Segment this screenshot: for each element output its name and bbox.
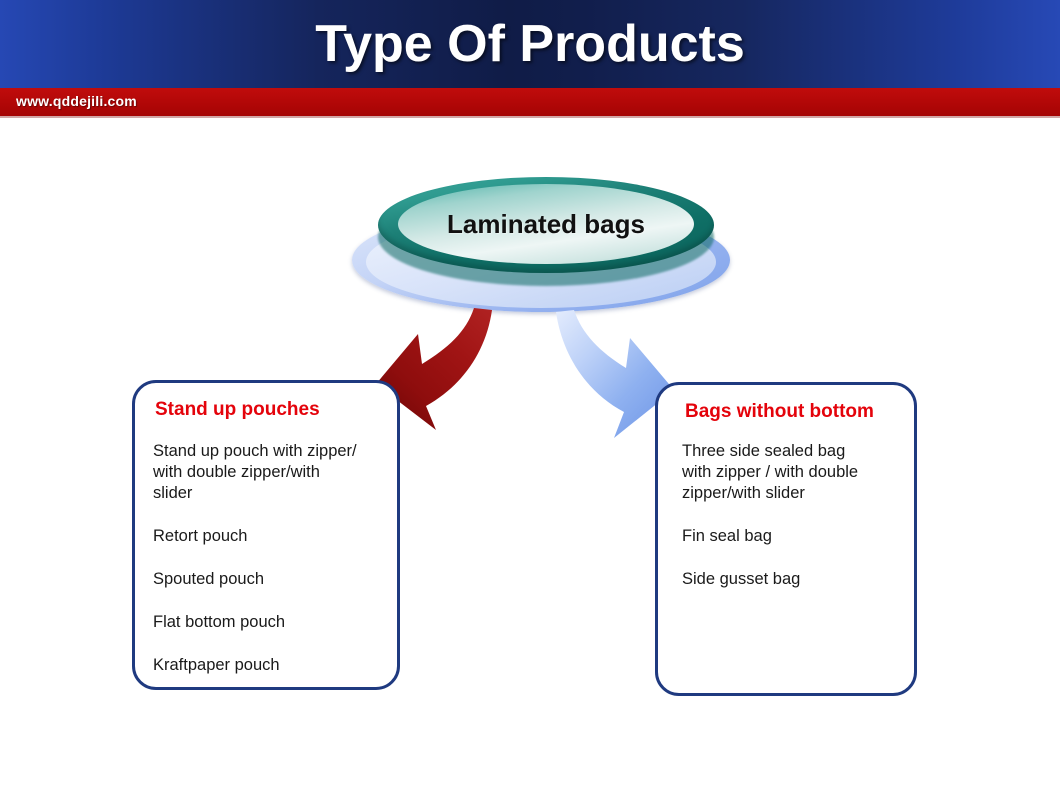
- list-item: Retort pouch: [153, 526, 389, 547]
- category-item-list: Stand up pouch with zipper/ with double …: [153, 441, 389, 698]
- category-box-stand-up-pouches[interactable]: Stand up pouches Stand up pouch with zip…: [132, 380, 400, 690]
- list-item: Side gusset bag: [682, 569, 908, 590]
- header-divider: [0, 116, 1060, 118]
- list-item: Kraftpaper pouch: [153, 655, 389, 676]
- list-item: Three side sealed bag with zipper / with…: [682, 441, 908, 504]
- slide-canvas: Type Of Products www.qddejili.com Lamina…: [0, 0, 1060, 791]
- category-item-list: Three side sealed bag with zipper / with…: [682, 441, 908, 612]
- list-item: Flat bottom pouch: [153, 612, 389, 633]
- header-accent-bar: [0, 88, 1060, 116]
- page-title: Type Of Products: [0, 14, 1060, 74]
- list-item: Stand up pouch with zipper/ with double …: [153, 441, 389, 504]
- root-node-label: Laminated bags: [398, 184, 694, 264]
- category-title: Stand up pouches: [155, 399, 320, 421]
- list-item: Fin seal bag: [682, 526, 908, 547]
- site-url-label: www.qddejili.com: [16, 93, 137, 109]
- root-node-laminated-bags: Laminated bags: [352, 170, 734, 315]
- category-title: Bags without bottom: [685, 401, 874, 423]
- category-box-bags-without-bottom[interactable]: Bags without bottom Three side sealed ba…: [655, 382, 917, 696]
- list-item: Spouted pouch: [153, 569, 389, 590]
